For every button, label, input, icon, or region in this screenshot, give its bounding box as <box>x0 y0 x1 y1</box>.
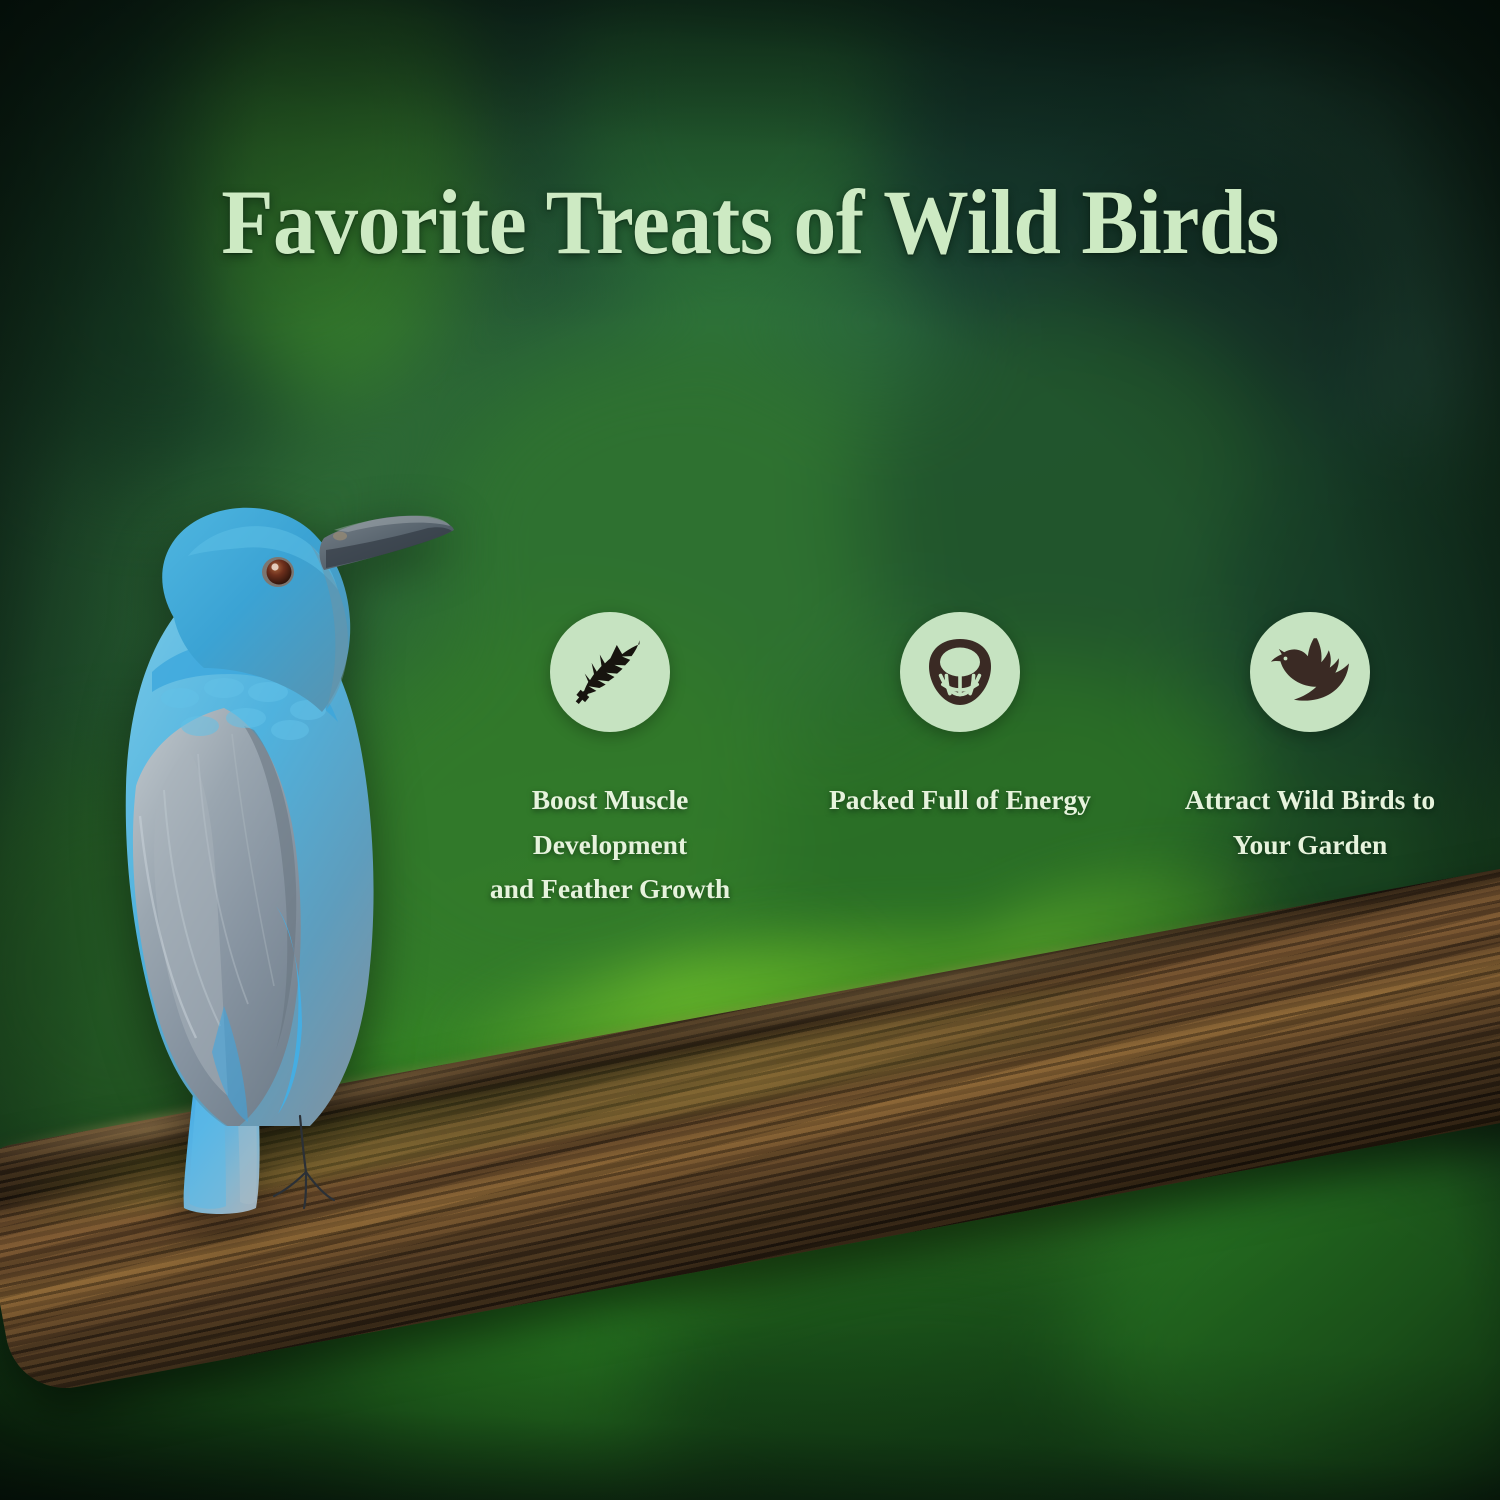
feature-item: Boost Muscle Development and Feather Gro… <box>460 612 760 912</box>
feature-label: Attract Wild Birds to Your Garden <box>1185 778 1435 867</box>
page-title: Favorite Treats of Wild Birds <box>53 176 1448 268</box>
bluebird-photo <box>48 486 468 1226</box>
feather-icon-badge <box>550 612 670 732</box>
seed-bowl-icon <box>923 635 997 709</box>
feature-item: Packed Full of Energy <box>810 612 1110 823</box>
tree-branch <box>0 980 1500 1500</box>
feature-list: Boost Muscle Development and Feather Gro… <box>460 612 1460 912</box>
flying-bird-icon <box>1271 636 1349 708</box>
product-infographic: Favorite Treats of Wild Birds Boost Musc… <box>0 0 1500 1500</box>
seed-bowl-icon-badge <box>900 612 1020 732</box>
feature-label: Packed Full of Energy <box>829 778 1091 823</box>
feature-label: Boost Muscle Development and Feather Gro… <box>490 778 730 912</box>
feature-item: Attract Wild Birds to Your Garden <box>1160 612 1460 867</box>
feather-icon <box>572 634 648 710</box>
flying-bird-icon-badge <box>1250 612 1370 732</box>
